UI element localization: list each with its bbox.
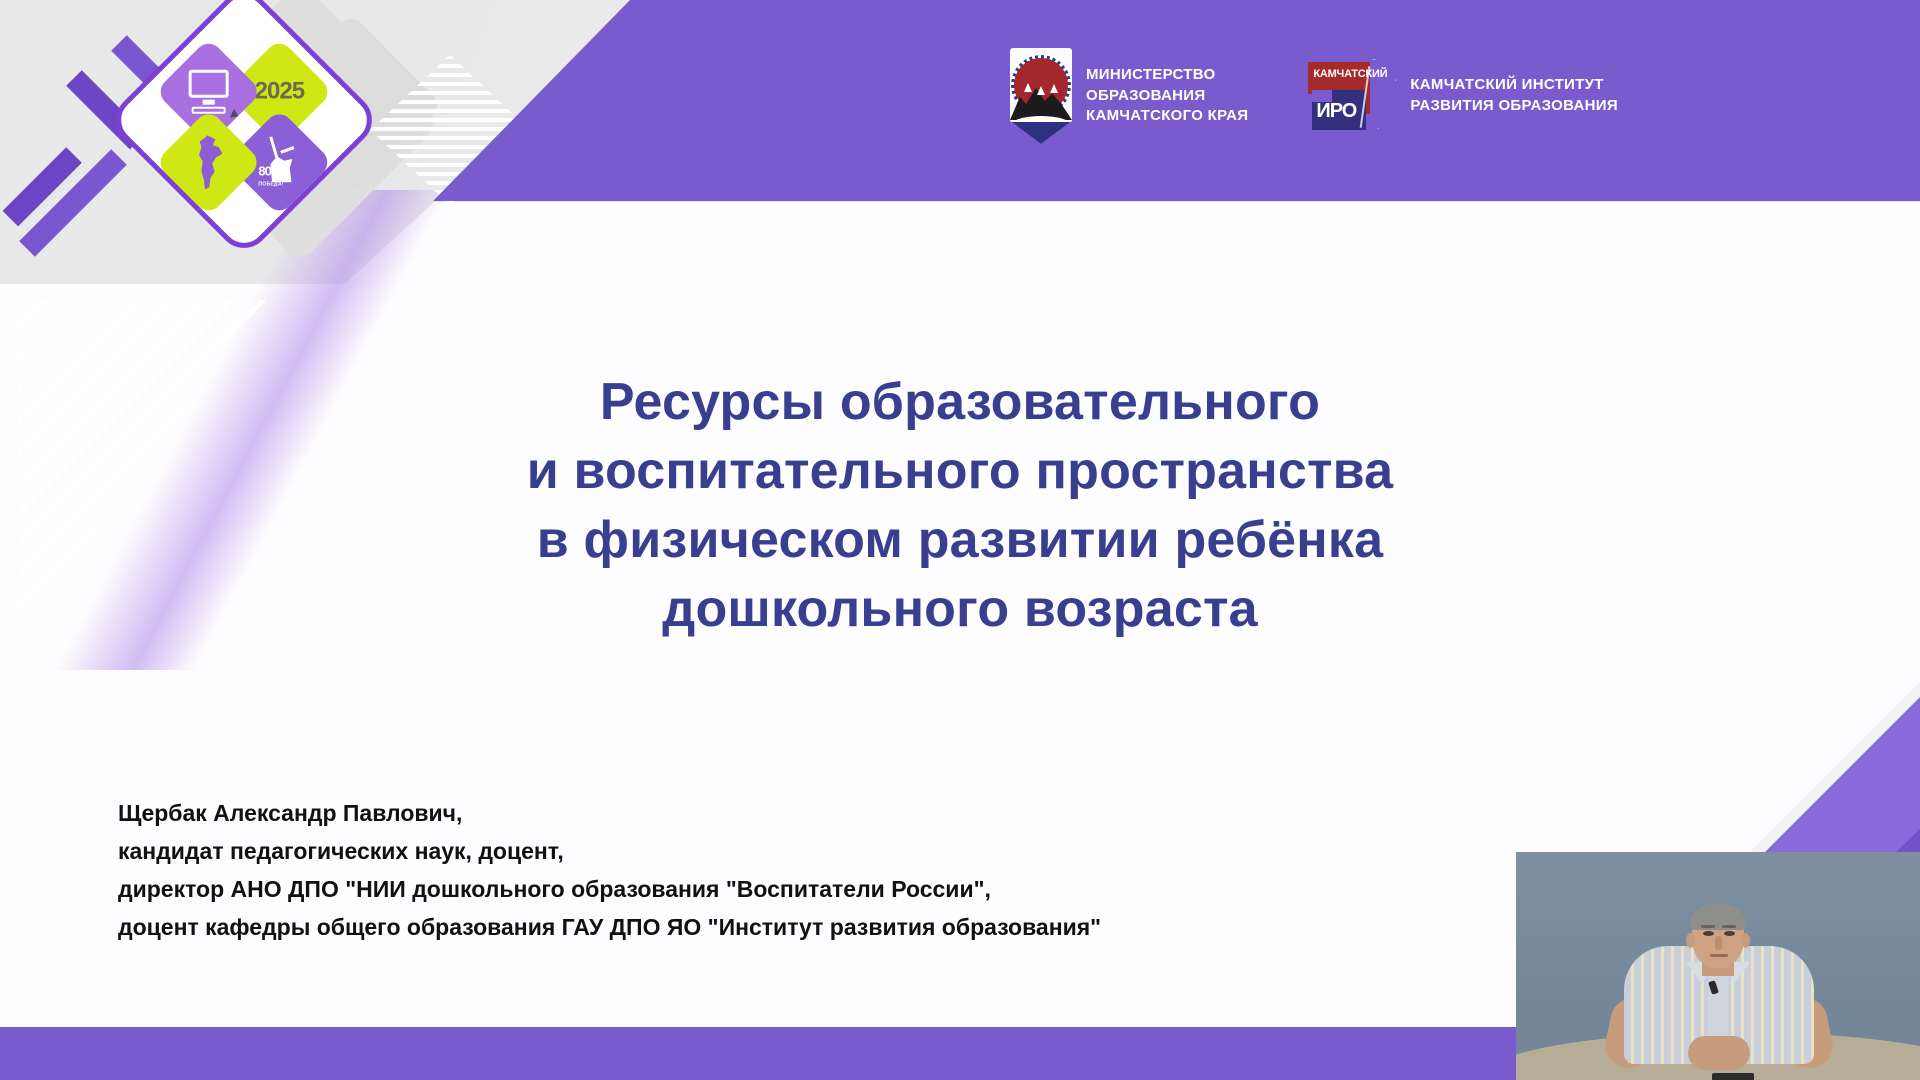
speaker-position-1: директор АНО ДПО "НИИ дошкольного образо… <box>118 871 1538 909</box>
iro-mark-top-text: КАМЧАТСКИЙ <box>1313 68 1387 80</box>
kamchatka-map-icon <box>171 124 247 200</box>
iro-mark-icon: КАМЧАТСКИЙ ИРО <box>1308 62 1396 130</box>
presenter-nose <box>1715 936 1722 950</box>
speaker-name: Щербак Александр Павлович, <box>118 795 1538 833</box>
title-line-3: в физическом развитии ребёнка <box>0 506 1920 575</box>
cursor-icon <box>230 109 241 121</box>
presenter-hair <box>1690 904 1746 930</box>
speaker-credentials: Щербак Александр Павлович, кандидат педа… <box>118 795 1538 947</box>
ministry-logo-text: МИНИСТЕРСТВО ОБРАЗОВАНИЯ КАМЧАТСКОГО КРА… <box>1086 65 1248 127</box>
presenter-eyebrow-right <box>1722 925 1736 928</box>
title-line-2: и воспитательного пространства <box>0 437 1920 506</box>
speaker-degree: кандидат педагогических наук, доцент, <box>118 833 1538 871</box>
presenter-ear-left <box>1686 933 1695 948</box>
desk-phone-object <box>1712 1073 1754 1080</box>
victory-word-text: ПОБЕДА! <box>258 181 283 187</box>
institute-logo-text: КАМЧАТСКИЙ ИНСТИТУТ РАЗВИТИЯ ОБРАЗОВАНИЯ <box>1410 75 1618 116</box>
presenter-video-overlay[interactable] <box>1516 852 1920 1080</box>
ministry-line-2: ОБРАЗОВАНИЯ <box>1086 86 1248 107</box>
victory-number-text: 80 <box>258 163 270 178</box>
kamchatka-coat-of-arms-icon <box>1010 48 1072 144</box>
presenter-eyebrow-left <box>1701 925 1715 928</box>
kamchatka-2025-emblem: 2025 <box>146 22 342 218</box>
header-logos: МИНИСТЕРСТВО ОБРАЗОВАНИЯ КАМЧАТСКОГО КРА… <box>1010 48 1618 144</box>
iro-mark-main-text: ИРО <box>1316 100 1356 123</box>
presenter-eye-right <box>1724 931 1735 936</box>
ministry-logo: МИНИСТЕРСТВО ОБРАЗОВАНИЯ КАМЧАТСКОГО КРА… <box>1010 48 1248 144</box>
ministry-line-3: КАМЧАТСКОГО КРАЯ <box>1086 106 1248 127</box>
institute-line-1: КАМЧАТСКИЙ ИНСТИТУТ <box>1410 75 1618 96</box>
institute-logo: КАМЧАТСКИЙ ИРО КАМЧАТСКИЙ ИНСТИТУТ РАЗВИ… <box>1308 62 1618 130</box>
title-line-1: Ресурсы образовательного <box>0 368 1920 437</box>
speaker-position-2: доцент кафедры общего образования ГАУ ДП… <box>118 909 1538 947</box>
ministry-line-1: МИНИСТЕРСТВО <box>1086 65 1248 86</box>
presenter-ear-right <box>1741 933 1750 948</box>
presenter-hands <box>1688 1036 1750 1070</box>
emblem-year-text: 2025 <box>255 78 304 106</box>
presenter-mouth <box>1710 954 1728 957</box>
institute-line-2: РАЗВИТИЯ ОБРАЗОВАНИЯ <box>1410 96 1618 117</box>
page-title: Ресурсы образовательного и воспитательно… <box>0 368 1920 645</box>
presentation-slide: 2025 <box>0 0 1920 1080</box>
title-line-4: дошкольного возраста <box>0 575 1920 644</box>
presenter-eye-left <box>1703 931 1714 936</box>
emblem-quadrant-map <box>155 109 262 216</box>
